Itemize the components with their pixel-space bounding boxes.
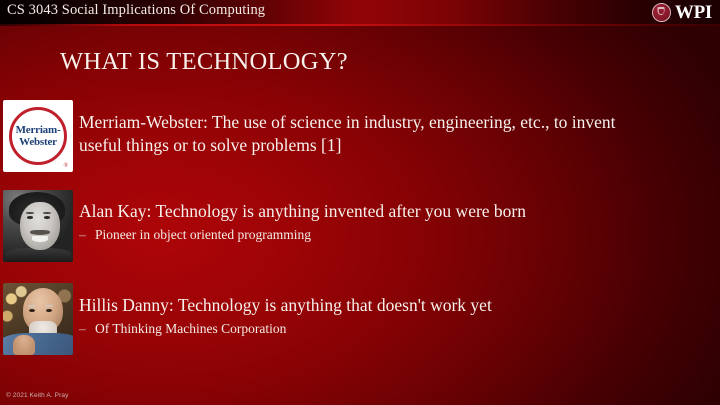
- merriam-webster-logo: Merriam- Webster ®: [3, 100, 73, 172]
- alan-kay-photo: [3, 190, 73, 262]
- portrait-mouth: [32, 236, 48, 242]
- page-title: WHAT IS TECHNOLOGY?: [60, 48, 348, 76]
- sub-bullet-label-alan-kay: Pioneer in object oriented programming: [95, 224, 311, 246]
- wpi-seal-icon: [652, 3, 671, 22]
- sub-bullet-alan-kay: – Pioneer in object oriented programming: [79, 224, 526, 246]
- copyright-notice: © 2021 Keith A. Pray: [6, 392, 68, 399]
- mw-word-line-2: Webster: [9, 136, 67, 148]
- portrait-mustache: [30, 230, 50, 235]
- dash-bullet-icon: –: [79, 224, 95, 246]
- portrait-shoulders: [5, 248, 71, 262]
- course-title: CS 3043 Social Implications Of Computing: [7, 2, 265, 19]
- bullet-text-alan-kay: Alan Kay: Technology is anything invente…: [79, 200, 526, 223]
- dash-bullet-icon: –: [79, 318, 95, 340]
- mw-wordmark: Merriam- Webster: [9, 124, 67, 148]
- sub-bullet-hillis-danny: – Of Thinking Machines Corporation: [79, 318, 492, 340]
- portrait-hand: [13, 335, 35, 355]
- bullet-text-hillis-danny: Hillis Danny: Technology is anything tha…: [79, 294, 492, 317]
- portrait-face: [20, 202, 60, 250]
- portrait-brow-left: [26, 212, 34, 214]
- mw-word-line-1: Merriam-: [9, 124, 67, 136]
- portrait-brow-right: [43, 212, 51, 214]
- text-block-merriam-webster: Merriam-Webster: The use of science in i…: [79, 111, 657, 156]
- header-underline: [0, 24, 720, 26]
- portrait-eye-left: [27, 216, 33, 219]
- portrait-eye-right: [44, 216, 50, 219]
- text-block-alan-kay: Alan Kay: Technology is anything invente…: [79, 200, 526, 246]
- slide: CS 3043 Social Implications Of Computing…: [0, 0, 720, 405]
- wpi-logo: WPI: [652, 1, 712, 23]
- portrait-eye-right: [46, 309, 52, 312]
- mw-registered-icon: ®: [63, 163, 68, 169]
- hillis-danny-photo: [3, 283, 73, 355]
- bullet-text-merriam-webster: Merriam-Webster: The use of science in i…: [79, 111, 657, 156]
- portrait-eye-left: [29, 309, 35, 312]
- sub-bullet-label-hillis-danny: Of Thinking Machines Corporation: [95, 318, 286, 340]
- text-block-hillis-danny: Hillis Danny: Technology is anything tha…: [79, 294, 492, 340]
- wpi-logo-text: WPI: [675, 3, 712, 22]
